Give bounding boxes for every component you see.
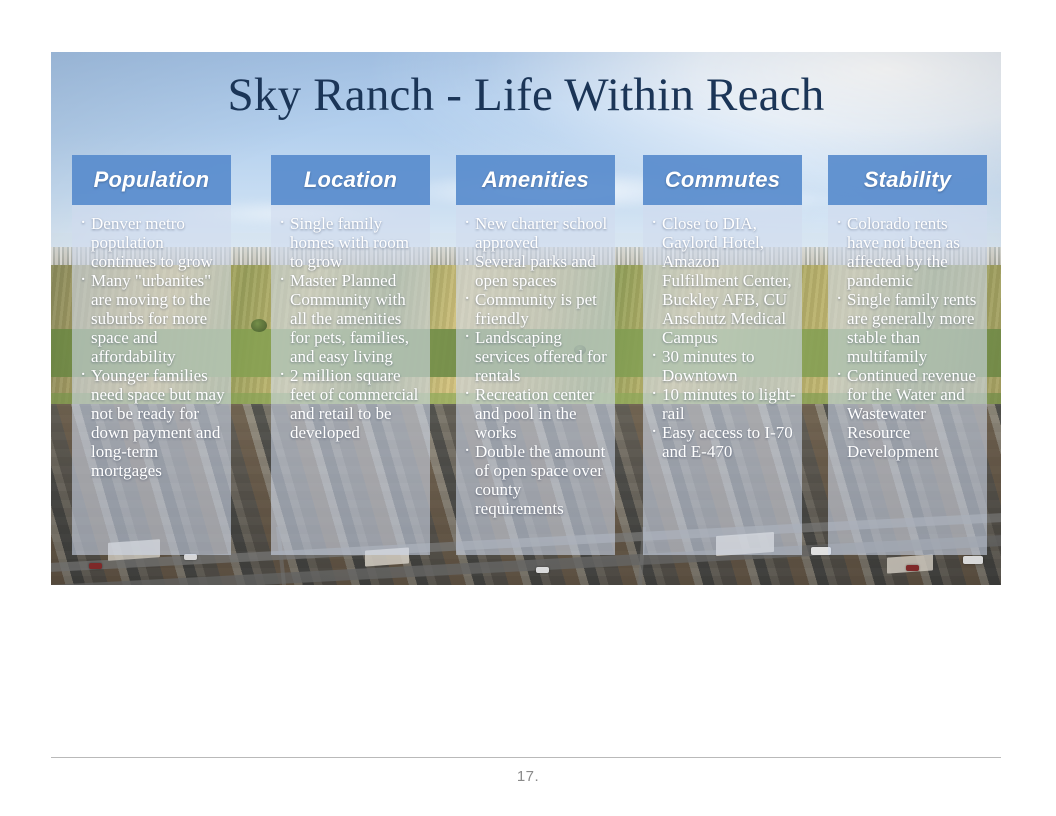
- list-item: 30 minutes to Downtown: [649, 347, 796, 385]
- column-body: New charter school approved Several park…: [456, 205, 615, 518]
- bullet-list: New charter school approved Several park…: [462, 214, 609, 518]
- bullet-list: Colorado rents have not been as affected…: [834, 214, 981, 461]
- column-header-label: Stability: [864, 167, 951, 193]
- list-item: Colorado rents have not been as affected…: [834, 214, 981, 290]
- list-item: Single family homes with room to grow: [277, 214, 424, 271]
- column-population: Population Denver metro population conti…: [72, 155, 231, 555]
- bullet-list: Denver metro population continues to gro…: [78, 214, 225, 480]
- list-item: Close to DIA, Gaylord Hotel, Amazon Fulf…: [649, 214, 796, 347]
- page-number: 17.: [0, 768, 1056, 785]
- column-header-band: Stability: [828, 155, 987, 205]
- column-header-label: Location: [304, 167, 397, 193]
- list-item: Master Planned Community with all the am…: [277, 271, 424, 366]
- bullet-list: Single family homes with room to grow Ma…: [277, 214, 424, 442]
- column-commutes: Commutes Close to DIA, Gaylord Hotel, Am…: [643, 155, 802, 555]
- presentation-slide: Sky Ranch - Life Within Reach Population…: [51, 52, 1001, 585]
- column-header-band: Population: [72, 155, 231, 205]
- list-item: Denver metro population continues to gro…: [78, 214, 225, 271]
- list-item: Several parks and open spaces: [462, 252, 609, 290]
- columns-container: Population Denver metro population conti…: [51, 52, 1001, 585]
- footer-divider: [51, 757, 1001, 758]
- list-item: Younger families need space but may not …: [78, 366, 225, 480]
- column-header-band: Commutes: [643, 155, 802, 205]
- list-item: Single family rents are generally more s…: [834, 290, 981, 366]
- column-header-label: Commutes: [665, 167, 780, 193]
- list-item: 2 million square feet of commercial and …: [277, 366, 424, 442]
- column-body: Denver metro population continues to gro…: [72, 205, 231, 480]
- list-item: New charter school approved: [462, 214, 609, 252]
- column-header-band: Amenities: [456, 155, 615, 205]
- list-item: Double the amount of open space over cou…: [462, 442, 609, 518]
- column-header-label: Population: [94, 167, 210, 193]
- column-stability: Stability Colorado rents have not been a…: [828, 155, 987, 555]
- column-location: Location Single family homes with room t…: [271, 155, 430, 555]
- list-item: Continued revenue for the Water and Wast…: [834, 366, 981, 461]
- list-item: Landscaping services offered for rentals: [462, 328, 609, 385]
- bullet-list: Close to DIA, Gaylord Hotel, Amazon Fulf…: [649, 214, 796, 461]
- column-body: Close to DIA, Gaylord Hotel, Amazon Fulf…: [643, 205, 802, 461]
- column-header-band: Location: [271, 155, 430, 205]
- list-item: Recreation center and pool in the works: [462, 385, 609, 442]
- column-body: Colorado rents have not been as affected…: [828, 205, 987, 461]
- list-item: Community is pet friendly: [462, 290, 609, 328]
- list-item: Many "urbanites" are moving to the subur…: [78, 271, 225, 366]
- column-amenities: Amenities New charter school approved Se…: [456, 155, 615, 555]
- list-item: Easy access to I-70 and E-470: [649, 423, 796, 461]
- column-body: Single family homes with room to grow Ma…: [271, 205, 430, 442]
- list-item: 10 minutes to light-rail: [649, 385, 796, 423]
- column-header-label: Amenities: [482, 167, 589, 193]
